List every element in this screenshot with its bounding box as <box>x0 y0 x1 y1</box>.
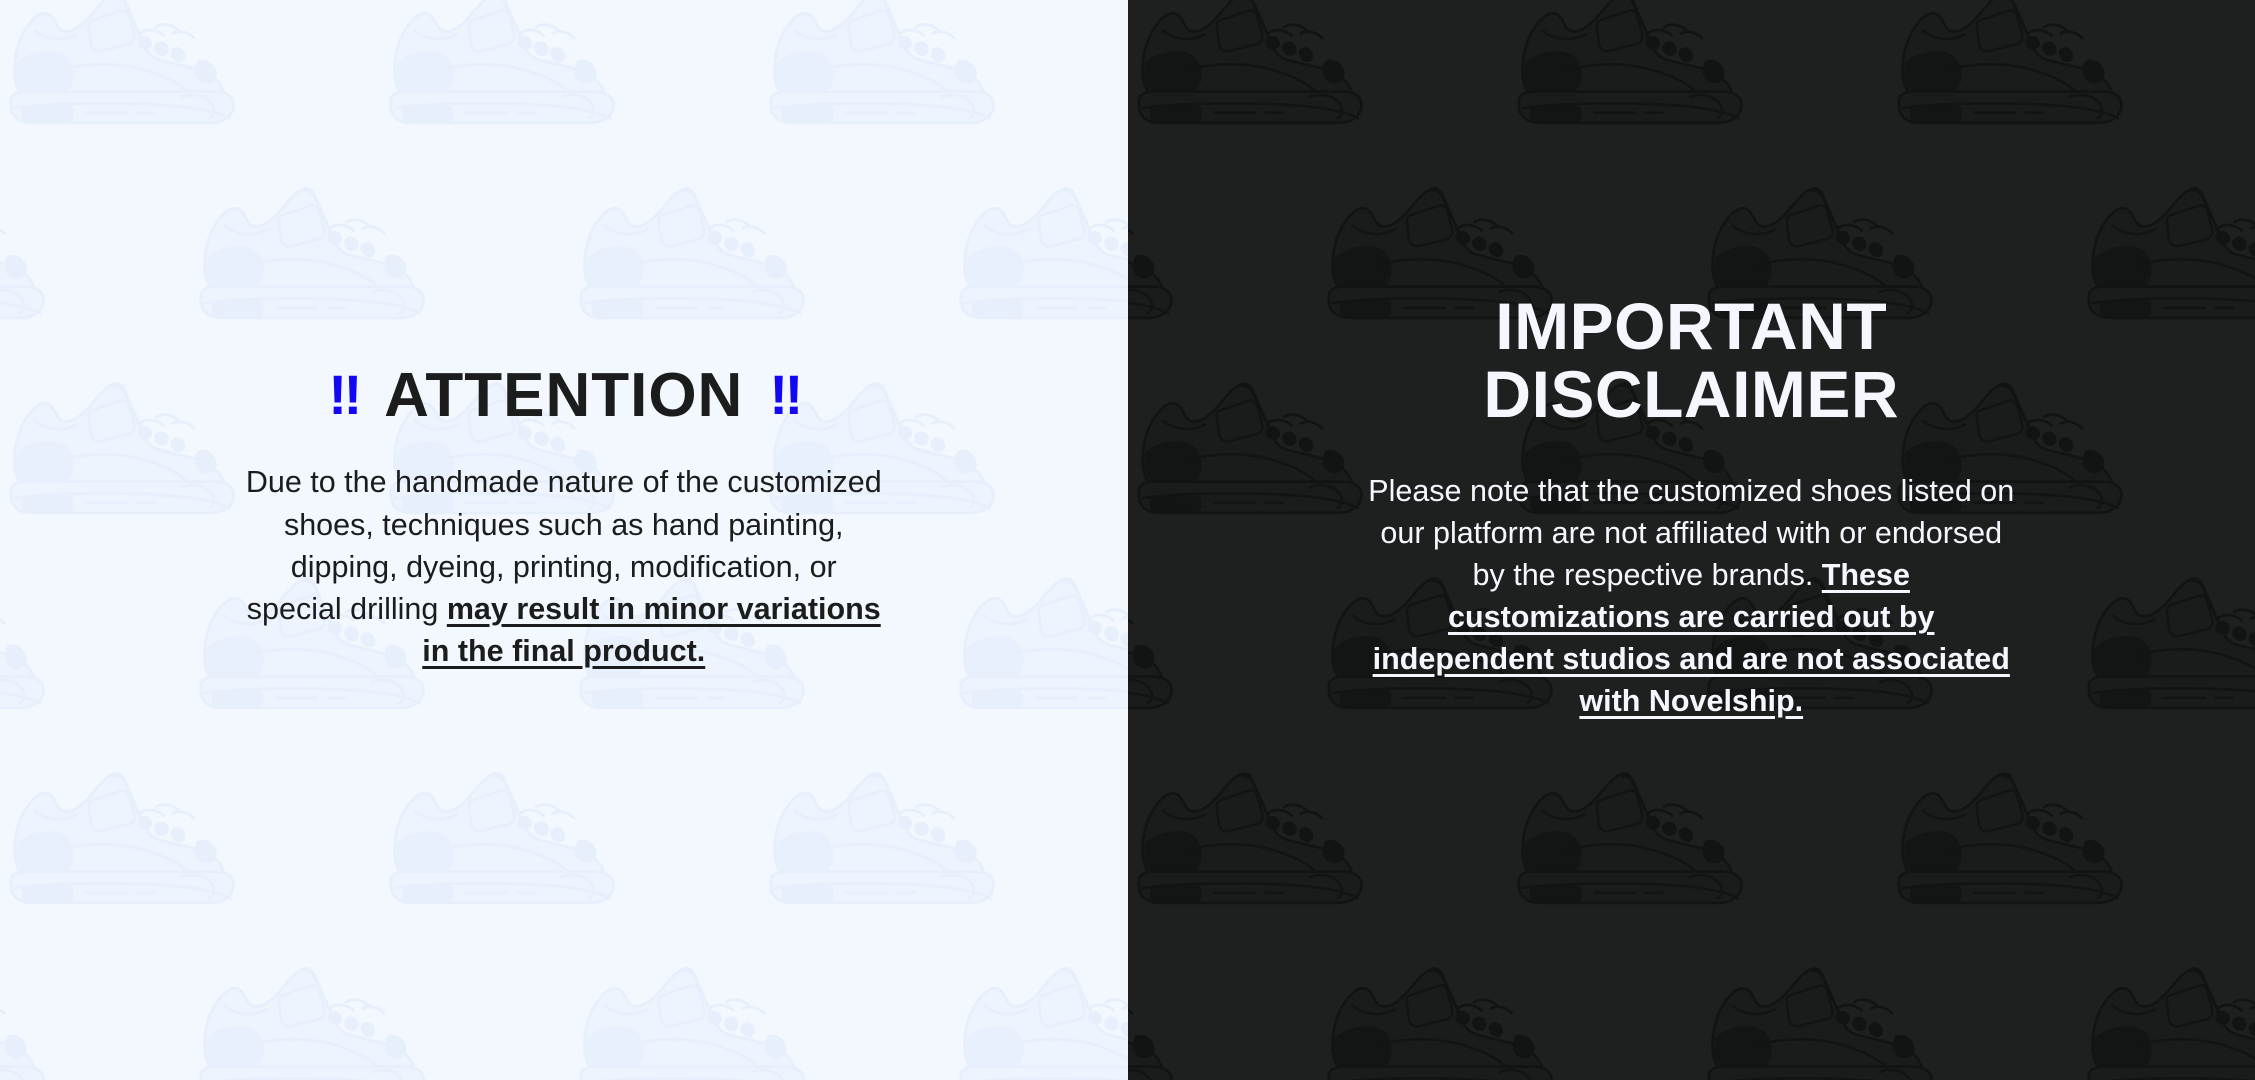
disclaimer-content: IMPORTANTDISCLAIMER Please note that the… <box>1128 293 2255 722</box>
attention-content: ‼ATTENTION‼ Due to the handmade nature o… <box>0 364 1128 672</box>
disclaimer-headline-line1: IMPORTANT <box>1495 289 1887 363</box>
attention-body: Due to the handmade nature of the custom… <box>244 461 884 671</box>
attention-body-emphasis: may result in minor variations in the fi… <box>422 592 880 668</box>
attention-panel: ‼ATTENTION‼ Due to the handmade nature o… <box>0 0 1128 1080</box>
attention-headline: ‼ATTENTION‼ <box>40 364 1088 427</box>
disclaimer-body: Please note that the customized shoes li… <box>1361 470 2021 722</box>
double-exclamation-icon-left: ‼ <box>328 366 358 423</box>
disclaimer-panel: IMPORTANTDISCLAIMER Please note that the… <box>1128 0 2255 1080</box>
disclaimer-headline: IMPORTANTDISCLAIMER <box>1371 293 2011 428</box>
attention-headline-text: ATTENTION <box>384 361 743 430</box>
double-exclamation-icon-right: ‼ <box>769 366 799 423</box>
disclaimer-banner: ‼ATTENTION‼ Due to the handmade nature o… <box>0 0 2255 1080</box>
disclaimer-body-regular: Please note that the customized shoes li… <box>1368 474 2014 592</box>
disclaimer-headline-line2: DISCLAIMER <box>1483 357 1899 431</box>
